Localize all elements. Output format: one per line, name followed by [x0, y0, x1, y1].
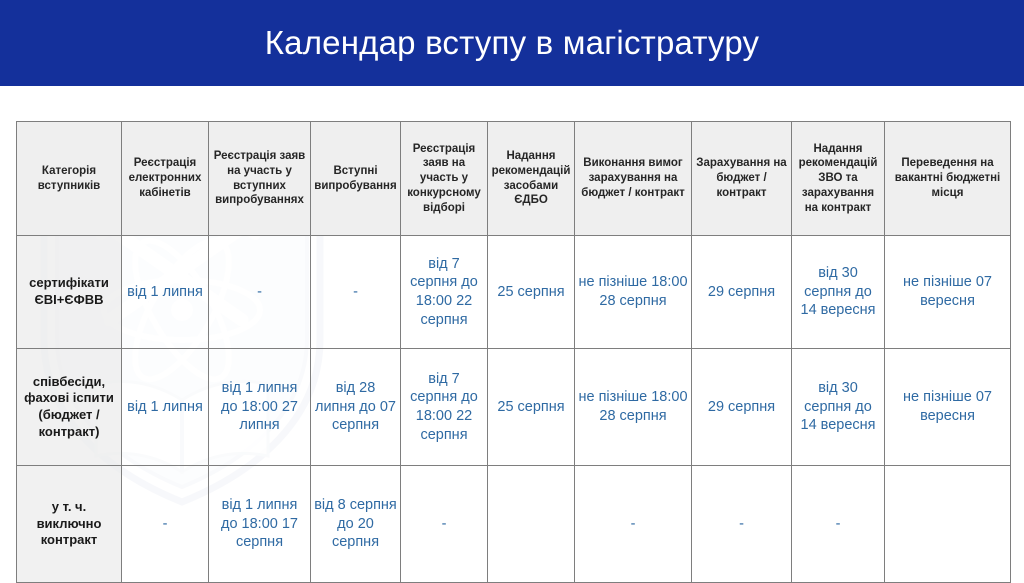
column-header-zvo-recommendations-contract: Надання рекомендацій ЗВО та зарахування … — [792, 122, 885, 236]
cell-r2-enrollment-requirements: не пізніше 18:00 28 серпня — [575, 349, 692, 466]
cell-r3-enrollment-requirements: - — [575, 466, 692, 583]
column-header-edbo-recommendations: Надання рекомендацій засобами ЄДБО — [488, 122, 575, 236]
cell-r1-zvo-recommendations: від 30 серпня до 14 вересня — [792, 236, 885, 349]
cell-r3-entrance-exams: від 8 серпня до 20 серпня — [311, 466, 401, 583]
column-header-entrance-exams: Вступні випробування — [311, 122, 401, 236]
cell-r3-enrollment: - — [692, 466, 792, 583]
cell-r1-enrollment-requirements: не пізніше 18:00 28 серпня — [575, 236, 692, 349]
cell-r2-ecabinet: від 1 липня — [122, 349, 209, 466]
column-header-competition-application-registration: Реєстрація заяв на участь у конкурсному … — [401, 122, 488, 236]
column-header-enrollment-requirements: Виконання вимог зарахування на бюджет / … — [575, 122, 692, 236]
column-header-category: Категорія вступників — [17, 122, 122, 236]
cell-r3-exam-application: від 1 липня до 18:00 17 серпня — [209, 466, 311, 583]
column-header-transfer-vacant-budget: Переведення на вакантні бюджетні місця — [885, 122, 1011, 236]
cell-r2-edbo-recommendations: 25 серпня — [488, 349, 575, 466]
table-row: співбесіди, фахові іспити (бюджет / конт… — [17, 349, 1011, 466]
cell-r2-entrance-exams: від 28 липня до 07 серпня — [311, 349, 401, 466]
cell-r1-competition-application: від 7 серпня до 18:00 22 серпня — [401, 236, 488, 349]
admission-calendar-table-wrapper: Категорія вступників Реєстрація електрон… — [16, 121, 1010, 583]
cell-r3-edbo-recommendations — [488, 466, 575, 583]
table-row: у т. ч. виключно контракт - від 1 липня … — [17, 466, 1011, 583]
column-header-enrollment: Зарахування на бюджет / контракт — [692, 122, 792, 236]
cell-r1-edbo-recommendations: 25 серпня — [488, 236, 575, 349]
cell-r2-enrollment: 29 серпня — [692, 349, 792, 466]
banner-underline — [0, 86, 1024, 90]
cell-r3-competition-application: - — [401, 466, 488, 583]
cell-r2-competition-application: від 7 серпня до 18:00 22 серпня — [401, 349, 488, 466]
cell-r1-enrollment: 29 серпня — [692, 236, 792, 349]
admission-calendar-table: Категорія вступників Реєстрація електрон… — [16, 121, 1011, 583]
cell-r2-zvo-recommendations: від 30 серпня до 14 вересня — [792, 349, 885, 466]
cell-r1-entrance-exams: - — [311, 236, 401, 349]
page-title: Календар вступу в магістратуру — [265, 25, 760, 61]
table-row: сертифікати ЄВІ+ЄФВВ від 1 липня - - від… — [17, 236, 1011, 349]
column-header-exam-application-registration: Реєстрація заяв на участь у вступних вип… — [209, 122, 311, 236]
cell-r3-zvo-recommendations: - — [792, 466, 885, 583]
table-header-row: Категорія вступників Реєстрація електрон… — [17, 122, 1011, 236]
cell-r3-transfer-vacant — [885, 466, 1011, 583]
column-header-ecabinet-registration: Реєстрація електронних кабінетів — [122, 122, 209, 236]
row-label-contract-only: у т. ч. виключно контракт — [17, 466, 122, 583]
cell-r1-ecabinet: від 1 липня — [122, 236, 209, 349]
cell-r1-exam-application: - — [209, 236, 311, 349]
cell-r2-exam-application: від 1 липня до 18:00 27 липня — [209, 349, 311, 466]
title-banner: Календар вступу в магістратуру — [0, 0, 1024, 86]
row-label-certificates: сертифікати ЄВІ+ЄФВВ — [17, 236, 122, 349]
cell-r2-transfer-vacant: не пізніше 07 вересня — [885, 349, 1011, 466]
cell-r3-ecabinet: - — [122, 466, 209, 583]
cell-r1-transfer-vacant: не пізніше 07 вересня — [885, 236, 1011, 349]
row-label-interviews-professional-exams: співбесіди, фахові іспити (бюджет / конт… — [17, 349, 122, 466]
